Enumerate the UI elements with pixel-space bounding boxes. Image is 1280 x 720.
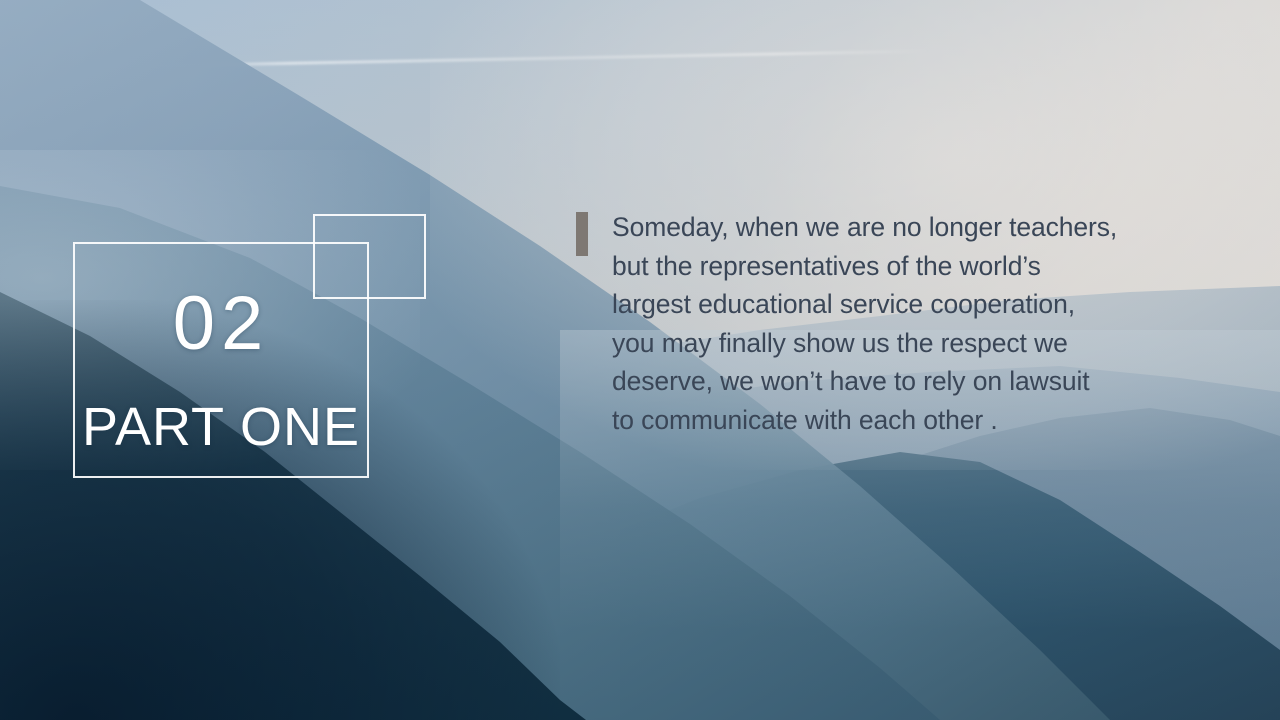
section-title: PART ONE bbox=[73, 400, 369, 454]
section-number: 02 bbox=[73, 286, 369, 362]
quote-accent-bar-icon bbox=[576, 212, 588, 256]
presentation-slide: 02 PART ONE Someday, when we are no long… bbox=[0, 0, 1280, 720]
quote-body-text: Someday, when we are no longer teachers,… bbox=[612, 208, 1196, 439]
